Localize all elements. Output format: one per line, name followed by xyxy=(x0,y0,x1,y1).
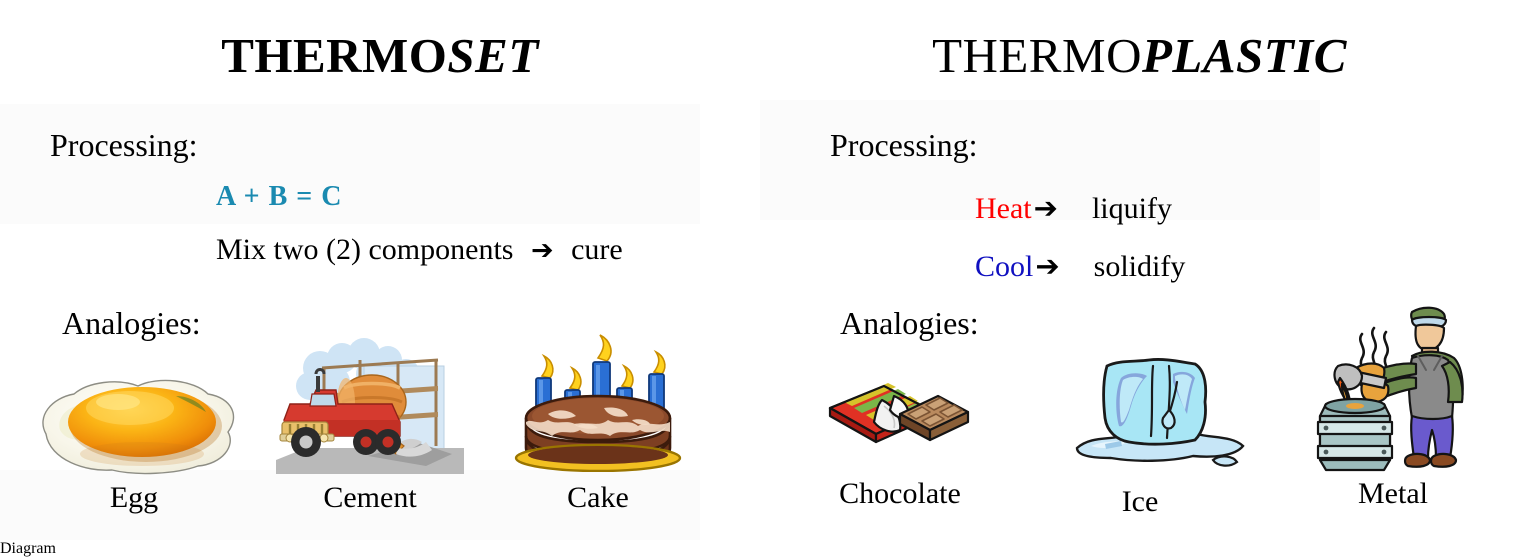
thermoplastic-title-prefix: THERMO xyxy=(932,28,1142,83)
thermoplastic-column: THERMOPLASTIC Processing: Heat ➔ liquify… xyxy=(760,0,1519,540)
thermoset-formula: A + B = C xyxy=(216,182,342,212)
thermoplastic-analogies-label: Analogies: xyxy=(840,306,979,340)
egg-figure xyxy=(26,372,242,478)
cake-figure xyxy=(508,332,688,472)
cool-term: Cool xyxy=(975,251,1033,283)
thermoset-column: THERMOSET Processing: A + B = C Mix two … xyxy=(0,0,760,540)
cement-caption: Cement xyxy=(272,482,468,514)
ice-caption: Ice xyxy=(1060,486,1220,518)
thermoset-title-prefix: THERMO xyxy=(221,28,447,83)
arrow-right-icon: ➔ xyxy=(1035,250,1059,282)
mix-text-after: cure xyxy=(571,233,623,266)
thermoset-title: THERMOSET xyxy=(0,30,760,82)
thermoplastic-title-suffix: PLASTIC xyxy=(1142,28,1347,83)
slide-canvas: THERMOSET Processing: A + B = C Mix two … xyxy=(0,0,1519,540)
cake-caption: Cake xyxy=(506,482,690,514)
cool-result: solidify xyxy=(1094,251,1186,283)
thermoplastic-title: THERMOPLASTIC xyxy=(760,30,1519,82)
ice-figure xyxy=(1065,352,1255,476)
heat-term: Heat xyxy=(975,193,1032,225)
thermoset-analogies-label: Analogies: xyxy=(62,306,201,340)
mix-text-before: Mix two (2) components xyxy=(216,233,513,266)
metal-figure xyxy=(1312,300,1472,476)
heat-result: liquify xyxy=(1092,193,1172,225)
processing-row-cool: Cool ➔ solidify xyxy=(975,250,1185,283)
cement-figure xyxy=(276,338,464,474)
metal-caption: Metal xyxy=(1308,478,1478,510)
thermoset-title-suffix: SET xyxy=(447,28,538,83)
arrow-right-icon: ➔ xyxy=(531,235,554,266)
egg-caption: Egg xyxy=(26,482,242,514)
thermoset-mix-line: Mix two (2) components ➔ cure xyxy=(216,234,623,267)
arrow-right-icon: ➔ xyxy=(1034,192,1058,224)
thermoplastic-processing-label: Processing: xyxy=(830,128,978,162)
thermoset-processing-label: Processing: xyxy=(50,128,198,162)
chocolate-caption: Chocolate xyxy=(810,478,990,510)
chocolate-figure xyxy=(822,372,972,468)
processing-row-heat: Heat ➔ liquify xyxy=(975,192,1172,225)
